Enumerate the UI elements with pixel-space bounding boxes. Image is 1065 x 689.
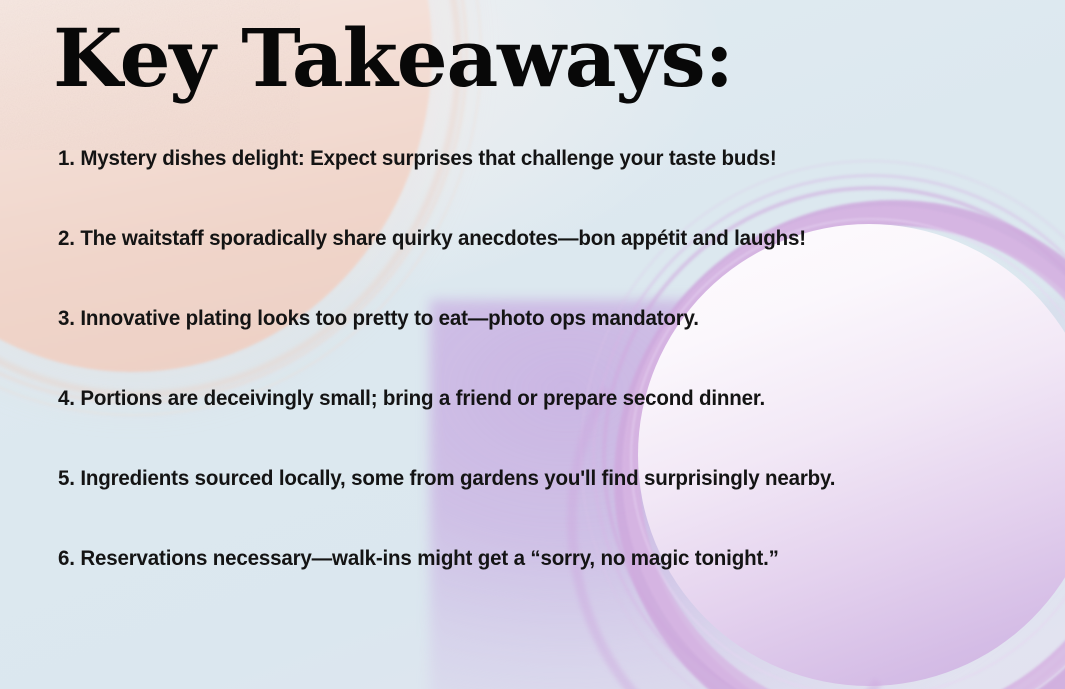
list-item: 6. Reservations necessary—walk-ins might… (58, 548, 975, 628)
list-item: 1. Mystery dishes delight: Expect surpri… (58, 148, 975, 228)
list-item: 2. The waitstaff sporadically share quir… (58, 228, 975, 308)
list-item: 3. Innovative plating looks too pretty t… (58, 308, 975, 388)
key-takeaways-graphic: Key Takeaways: 1. Mystery dishes delight… (0, 0, 1065, 689)
takeaways-list: 1. Mystery dishes delight: Expect surpri… (58, 148, 1018, 628)
content-layer: Key Takeaways: 1. Mystery dishes delight… (0, 0, 1065, 689)
page-title: Key Takeaways: (53, 18, 733, 98)
list-item: 5. Ingredients sourced locally, some fro… (58, 468, 975, 548)
list-item: 4. Portions are deceivingly small; bring… (58, 388, 975, 468)
